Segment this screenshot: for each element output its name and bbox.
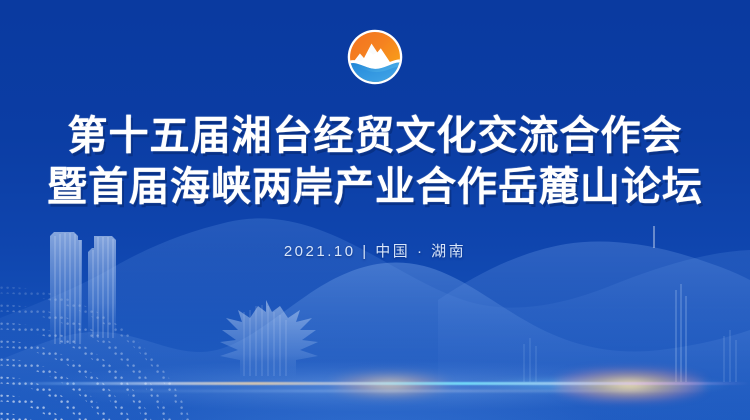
poster-title-block: 第十五届湘台经贸文化交流合作会 暨首届海峡两岸产业合作岳麓山论坛 [0,112,750,210]
logo-container [0,28,750,86]
poster-subtitle: 2021.10 | 中国 · 湖南 [0,240,750,261]
warm-center-glow [330,372,450,398]
horizon-light-streak-secondary [60,390,720,392]
event-poster: 第十五届湘台经贸文化交流合作会 暨首届海峡两岸产业合作岳麓山论坛 2021.10… [0,0,750,420]
dotted-arc-cluster [0,268,280,420]
warm-city-glow [555,368,705,402]
title-line-1: 第十五届湘台经贸文化交流合作会 [0,112,750,159]
mountain-sun-wave-circle-logo [346,28,404,86]
pagoda-pavilion-silhouette [220,300,318,378]
title-line-2: 暨首届海峡两岸产业合作岳麓山论坛 [0,163,750,210]
horizon-light-streak [0,382,750,385]
